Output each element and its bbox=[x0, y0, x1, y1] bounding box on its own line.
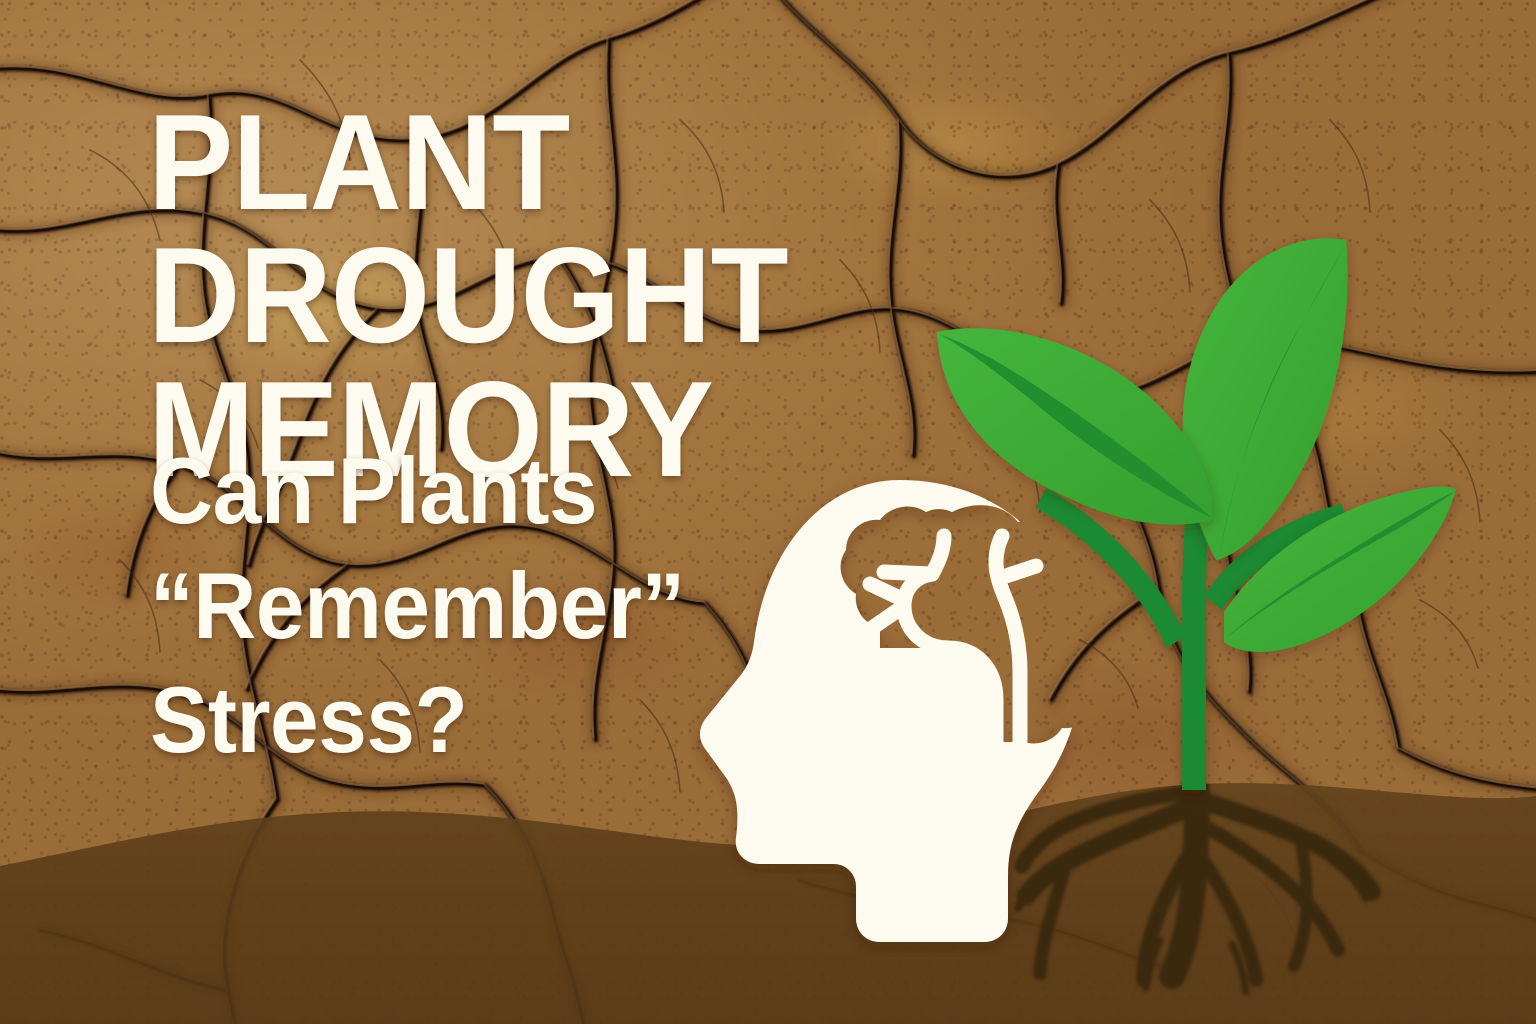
subtitle: Can Plants “Remember” Stress? bbox=[150, 434, 727, 778]
poster-canvas: PLANT DROUGHT MEMORY Can Plants “Remembe… bbox=[0, 0, 1536, 1024]
